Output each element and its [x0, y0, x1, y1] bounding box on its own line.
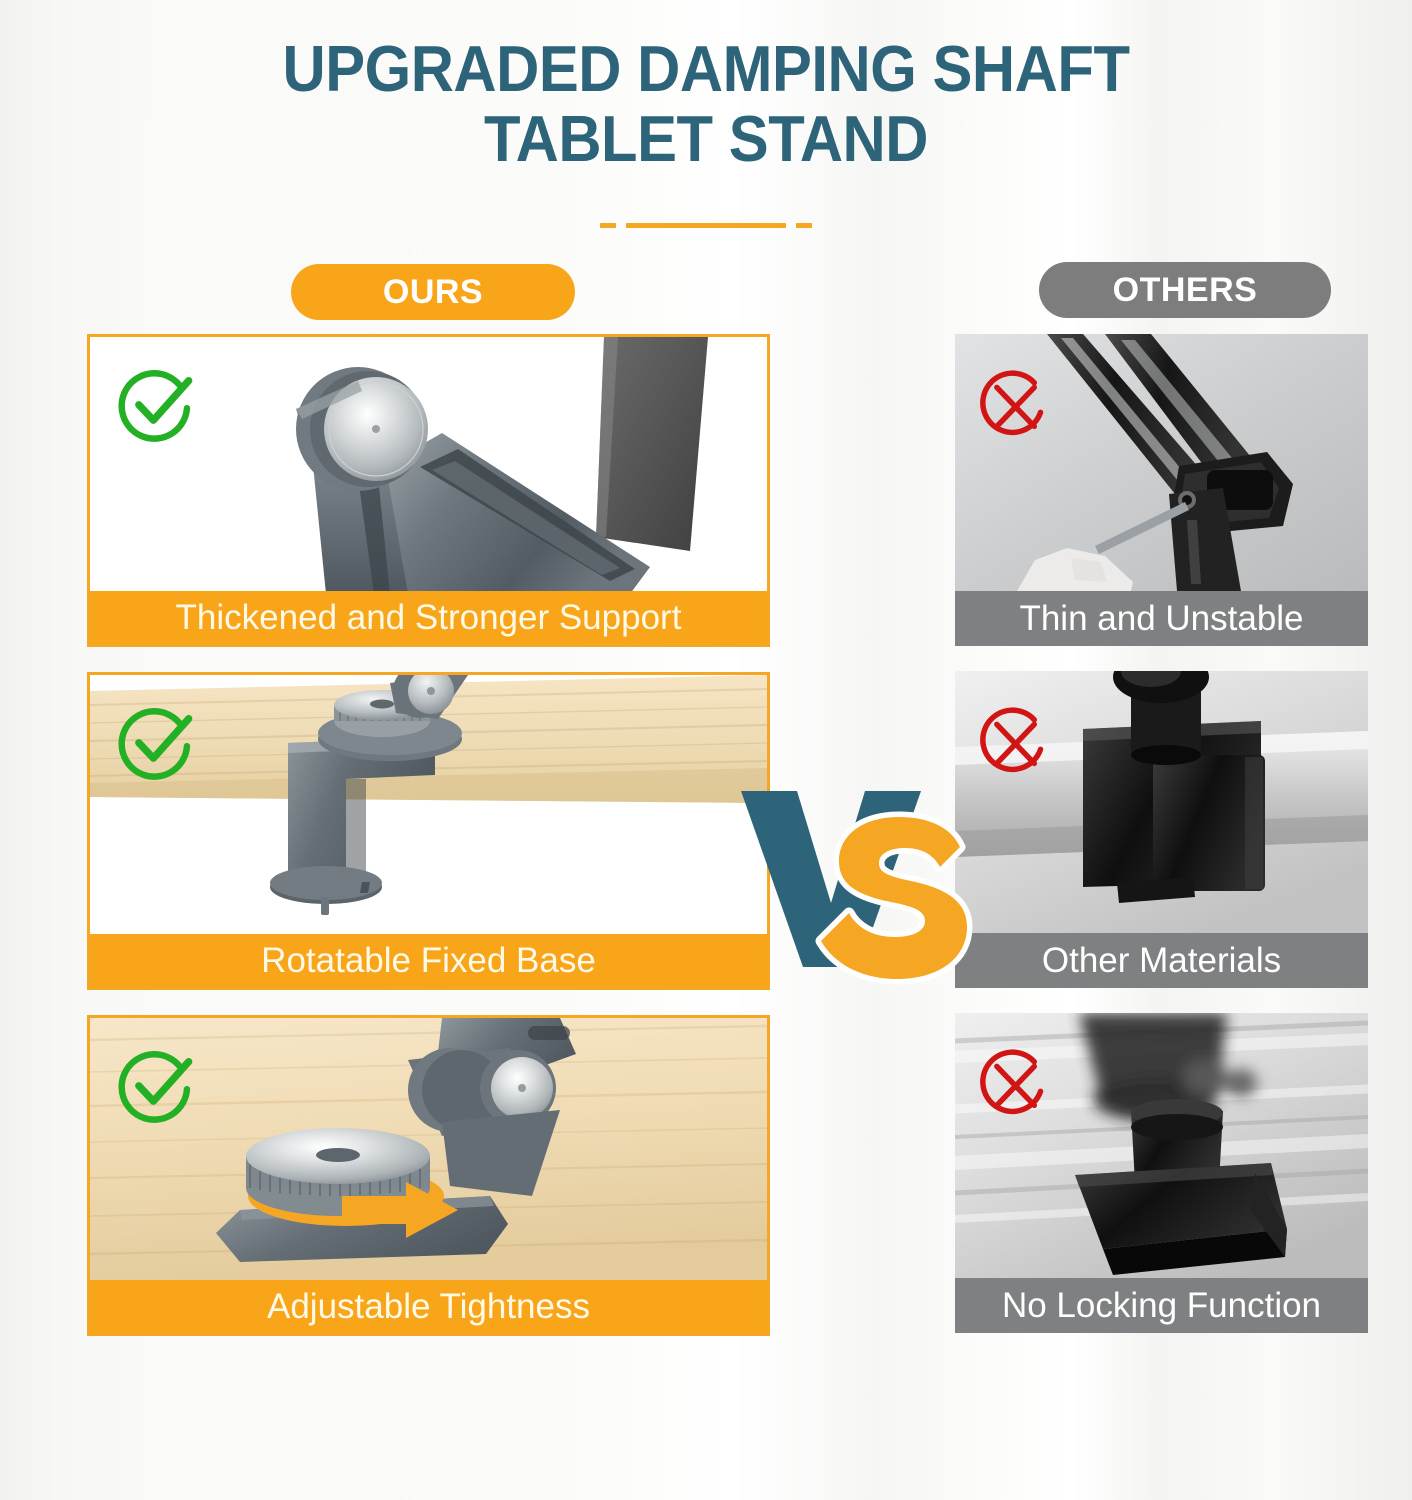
- ours-caption-1: Thickened and Stronger Support: [87, 591, 770, 647]
- divider-line: [626, 223, 786, 228]
- cross-circle-icon: [975, 364, 1053, 442]
- title-line-1: UPGRADED DAMPING SHAFT: [56, 34, 1355, 104]
- ours-caption-2: Rotatable Fixed Base: [87, 934, 770, 990]
- ours-card-1: Thickened and Stronger Support: [87, 334, 770, 647]
- check-circle-icon: [113, 360, 199, 446]
- divider-dash-right: [796, 223, 812, 228]
- others-card-3: No Locking Function: [955, 1013, 1368, 1333]
- others-caption-1: Thin and Unstable: [955, 591, 1368, 646]
- title-line-2: TABLET STAND: [56, 104, 1355, 174]
- others-caption-3: No Locking Function: [955, 1278, 1368, 1333]
- ours-column: Thickened and Stronger Support: [87, 334, 770, 1361]
- infographic-root: UPGRADED DAMPING SHAFT TABLET STAND OURS…: [0, 0, 1412, 1500]
- cross-circle-icon: [975, 1043, 1053, 1121]
- badge-others: OTHERS: [1039, 262, 1331, 318]
- ours-card-3: Adjustable Tightness: [87, 1015, 770, 1336]
- page-title: UPGRADED DAMPING SHAFT TABLET STAND: [0, 34, 1412, 174]
- check-circle-icon: [113, 698, 199, 784]
- badge-ours: OURS: [291, 264, 575, 320]
- others-column: Thin and Unstable: [955, 334, 1368, 1358]
- title-divider: [600, 223, 812, 228]
- check-circle-icon: [113, 1041, 199, 1127]
- ours-caption-3: Adjustable Tightness: [87, 1280, 770, 1336]
- divider-dash-left: [600, 223, 616, 228]
- others-caption-2: Other Materials: [955, 933, 1368, 988]
- ours-card-2: Rotatable Fixed Base: [87, 672, 770, 990]
- vs-graphic: [735, 755, 985, 1005]
- others-card-2: Other Materials: [955, 671, 1368, 988]
- cross-circle-icon: [975, 701, 1053, 779]
- others-card-1: Thin and Unstable: [955, 334, 1368, 646]
